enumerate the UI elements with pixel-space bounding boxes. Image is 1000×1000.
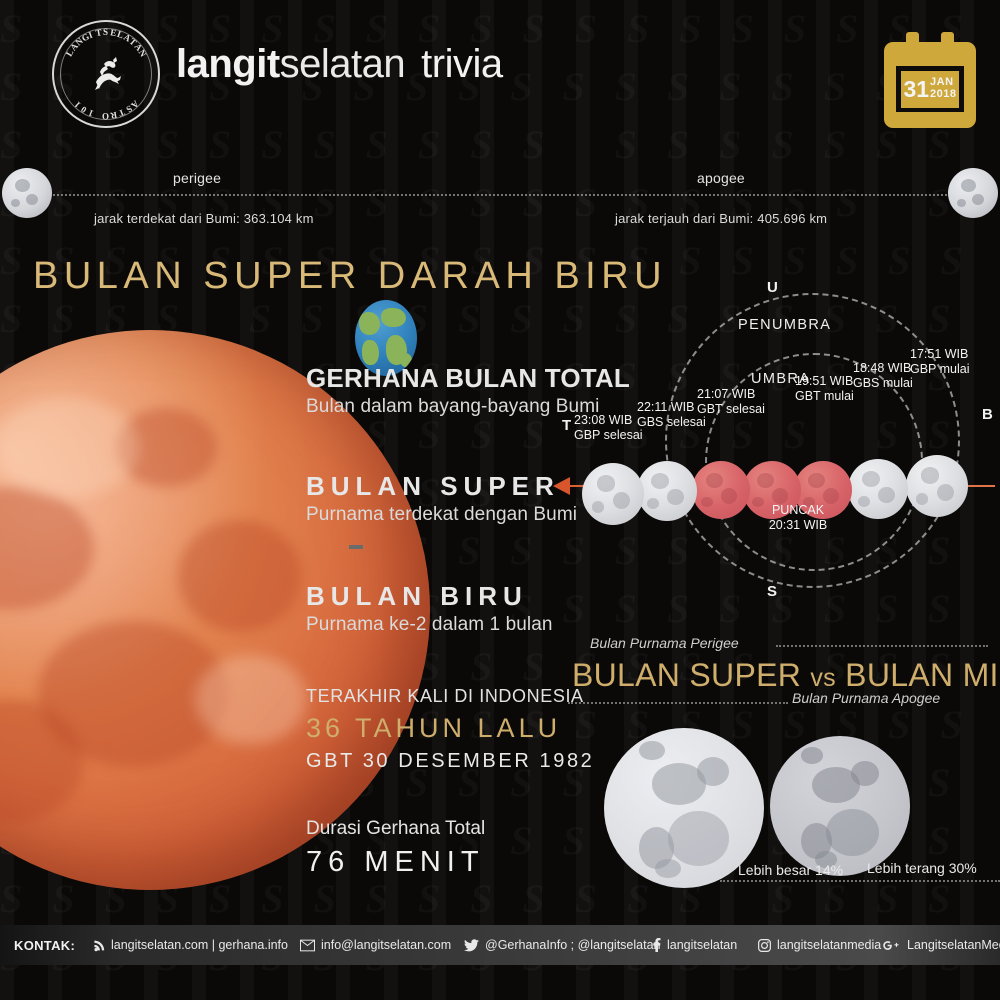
eclipse-path-diagram: U S T B PENUMBRA UMBRA: [545, 275, 1000, 605]
infographic-poster: SSSSSSSSSSSSSSSSSSSSSSSS SSSSSSSSSSSSSSS…: [0, 0, 1000, 1000]
phase-event-5: GBP mulai: [910, 362, 970, 376]
brand-langit: langit: [176, 42, 280, 86]
last-occurrence-label: TERAKHIR KALI DI INDONESIA: [306, 686, 594, 707]
phase-label-2: 21:07 WIB GBT selesai: [697, 387, 765, 417]
footer-item-facebook[interactable]: langitselatan: [652, 925, 737, 965]
cardinal-north-label: U: [767, 279, 778, 296]
instagram-icon: [758, 939, 771, 952]
perigee-apogee-band: perigee jarak terdekat dari Bumi: 363.10…: [0, 150, 1000, 260]
footer-text-instagram: langitselatanmedia: [777, 938, 881, 952]
duration-label: Durasi Gerhana Total: [306, 818, 485, 840]
phase-event-3: GBT mulai: [795, 389, 854, 403]
compare-brightness-label: Lebih terang 30%: [867, 860, 977, 876]
contact-footer: KONTAK: langitselatan.com | gerhana.info…: [0, 925, 1000, 965]
apogee-description: jarak terjauh dari Bumi: 405.696 km: [615, 211, 827, 226]
compare-size-label: Lebih besar 14%: [738, 862, 843, 878]
orbit-dotted-line: [14, 194, 986, 196]
last-occurrence-block: TERAKHIR KALI DI INDONESIA 36 TAHUN LALU…: [306, 686, 594, 773]
brand-selatan: selatan: [280, 42, 405, 86]
calendar-day: 31: [903, 78, 929, 101]
fact-bulan-super: BULAN SUPER Purnama terdekat dengan Bumi: [306, 471, 577, 526]
brand-title: langitselatantrivia: [176, 42, 503, 87]
horse-rider-icon: [80, 48, 132, 100]
phase-label-3: 19:51 WIB GBT mulai: [795, 374, 854, 404]
twitter-icon: [464, 939, 479, 952]
decorative-dash: [349, 545, 363, 549]
perigee-title: perigee: [173, 170, 221, 186]
compare-bottom-caption: Bulan Purnama Apogee: [792, 690, 940, 706]
googleplus-icon: [882, 939, 901, 952]
compare-size-dotted-line: [720, 880, 1000, 882]
envelope-icon: [300, 939, 315, 952]
compare-title: BULAN SUPER vs BULAN MINI: [572, 657, 992, 694]
footer-text-website: langitselatan.com | gerhana.info: [111, 938, 288, 952]
fact-title-1: BULAN SUPER: [306, 471, 577, 502]
phase-time-2: 21:07 WIB: [697, 387, 755, 401]
footer-item-email[interactable]: info@langitselatan.com: [300, 925, 451, 965]
phase-time-0: 23:08 WIB: [574, 413, 632, 427]
facebook-icon: [652, 938, 661, 952]
footer-item-twitter[interactable]: @GerhanaInfo ; @langitselatan: [464, 925, 660, 965]
phase-event-1: GBS selesai: [637, 415, 706, 429]
fact-bulan-biru: BULAN BIRU Purnama ke-2 dalam 1 bulan: [306, 581, 553, 636]
compare-title-right: BULAN MINI: [845, 657, 1000, 693]
cardinal-south-label: S: [767, 583, 777, 600]
perigee-description: jarak terdekat dari Bumi: 363.104 km: [94, 211, 314, 226]
footer-item-website[interactable]: langitselatan.com | gerhana.info: [92, 925, 288, 965]
phase-event-4: GBS mulai: [853, 376, 913, 390]
calendar-screen: 31 JAN 2018: [896, 66, 964, 112]
phase-time-5: 17:51 WIB: [910, 347, 968, 361]
fact-sub-1: Purnama terdekat dengan Bumi: [306, 504, 577, 526]
rss-icon: [92, 939, 105, 952]
compare-title-vs: vs: [810, 664, 836, 692]
footer-text-email: info@langitselatan.com: [321, 938, 451, 952]
phase-time-3: 19:51 WIB: [795, 374, 853, 388]
footer-text-facebook: langitselatan: [667, 938, 737, 952]
phase-moon-5: [906, 455, 968, 517]
perigee-moon-icon: [2, 168, 52, 218]
peak-time: 20:31 WIB: [769, 518, 827, 532]
fact-title-2: BULAN BIRU: [306, 581, 553, 612]
phase-event-2: GBT selesai: [697, 402, 765, 416]
compare-title-left: BULAN SUPER: [572, 657, 801, 693]
mini-moon-image: [770, 736, 910, 876]
peak-label: PUNCAK 20:31 WIB: [750, 503, 846, 533]
super-vs-mini-section: Bulan Purnama Perigee BULAN SUPER vs BUL…: [560, 630, 1000, 900]
fact-sub-2: Purnama ke-2 dalam 1 bulan: [306, 614, 553, 636]
phase-moon-0: [582, 463, 644, 525]
calendar-month-year: JAN 2018: [930, 77, 956, 100]
cardinal-west-label: B: [982, 406, 993, 423]
footer-item-instagram[interactable]: langitselatanmedia: [758, 925, 881, 965]
brand-trivia: trivia: [421, 42, 502, 86]
compare-top-dotted-line: [776, 645, 988, 647]
apogee-title: apogee: [697, 170, 745, 186]
phase-label-1: 22:11 WIB GBS selesai: [637, 400, 706, 430]
compare-bottom-dotted-line: [568, 702, 788, 704]
footer-text-googleplus: LangitselatanMedia: [907, 938, 1000, 952]
phase-label-5: 17:51 WIB GBP mulai: [910, 347, 970, 377]
phase-time-1: 22:11 WIB: [637, 400, 694, 414]
contact-label: KONTAK:: [14, 925, 75, 965]
footer-item-googleplus[interactable]: LangitselatanMedia: [882, 925, 1000, 965]
calendar-date: 31 JAN 2018: [901, 71, 959, 108]
calendar-icon: 31 JAN 2018: [884, 32, 976, 128]
phase-time-4: 18:48 WIB: [853, 361, 911, 375]
footer-text-twitter: @GerhanaInfo ; @langitselatan: [485, 938, 660, 952]
duration-block: Durasi Gerhana Total 76 MENIT: [306, 818, 485, 879]
phase-moon-1: [637, 461, 697, 521]
page-header: LANGITSELATANASTRO 101 langitselatantriv…: [0, 0, 1000, 150]
phase-moon-4: [848, 459, 908, 519]
phase-label-4: 18:48 WIB GBS mulai: [853, 361, 913, 391]
apogee-moon-icon: [948, 168, 998, 218]
phase-moon-2: [692, 461, 750, 519]
peak-title: PUNCAK: [772, 503, 824, 517]
cardinal-east-label: T: [562, 417, 571, 434]
langitselatan-logo: LANGITSELATANASTRO 101: [52, 20, 160, 128]
calendar-body: 31 JAN 2018: [884, 42, 976, 128]
phase-label-0: 23:08 WIB GBP selesai: [574, 413, 643, 443]
last-occurrence-value: 36 TAHUN LALU: [306, 713, 594, 744]
phase-event-0: GBP selesai: [574, 428, 643, 442]
compare-top-caption: Bulan Purnama Perigee: [590, 635, 739, 651]
duration-value: 76 MENIT: [306, 846, 485, 879]
last-occurrence-detail: GBT 30 DESEMBER 1982: [306, 750, 594, 773]
path-arrow-icon: [553, 477, 570, 495]
penumbra-label: PENUMBRA: [738, 317, 831, 333]
calendar-year: 2018: [930, 89, 956, 101]
